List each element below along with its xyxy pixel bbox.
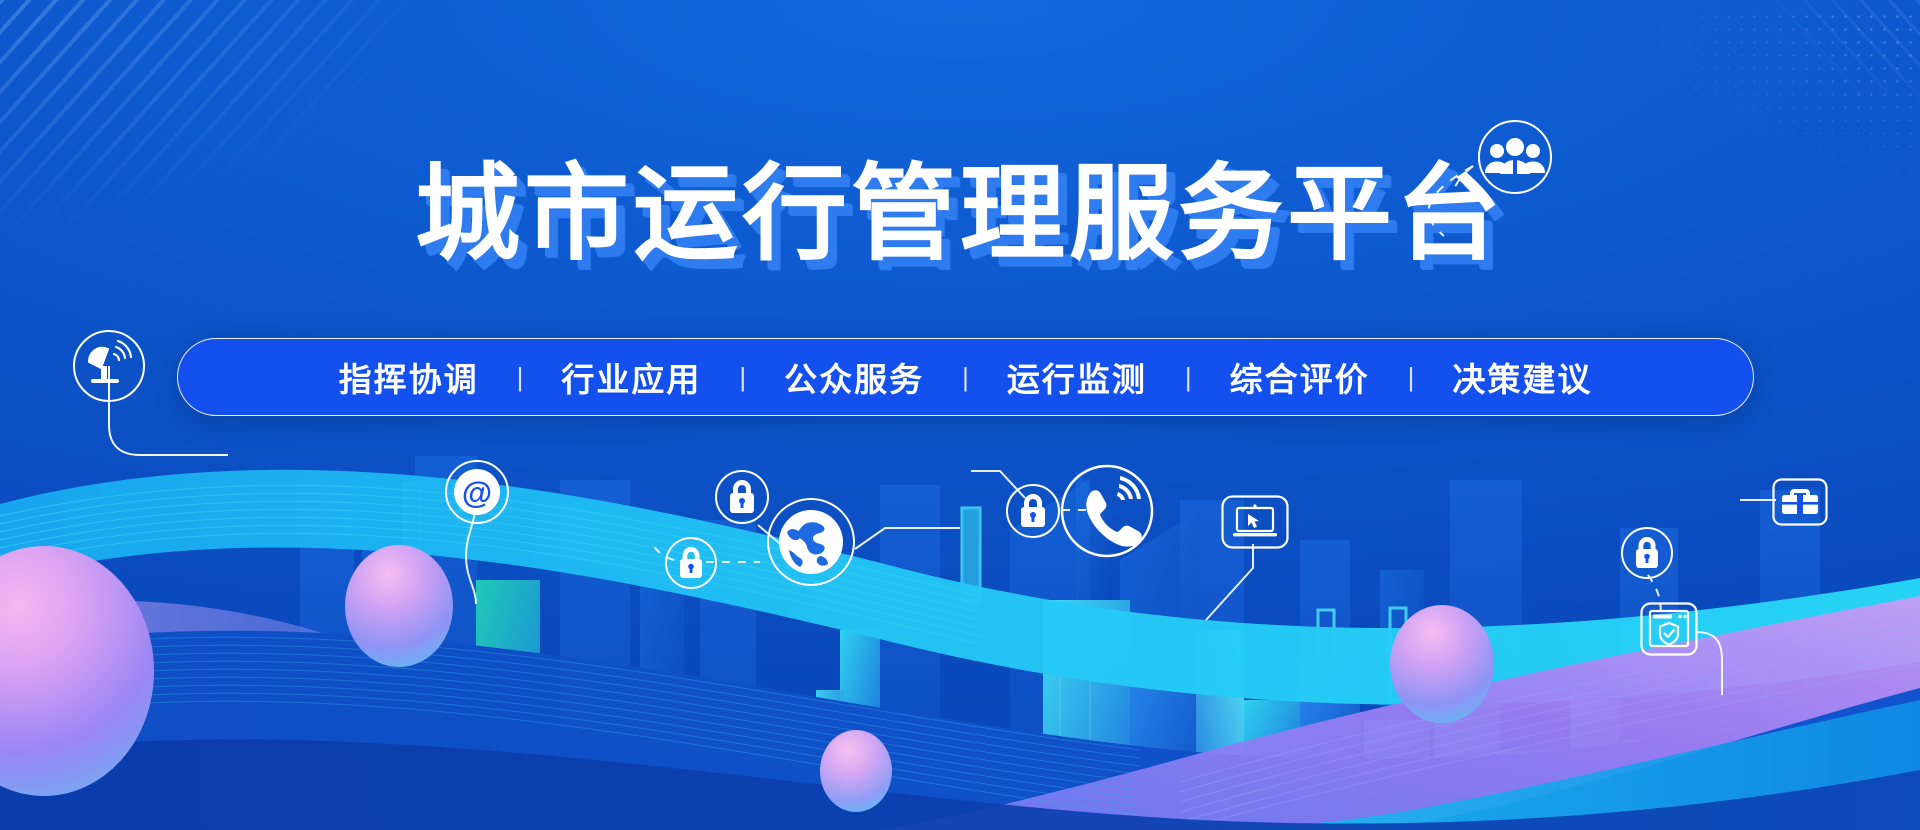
people-group-icon[interactable] <box>1476 118 1554 196</box>
svg-text:@: @ <box>462 475 492 510</box>
lock-icon[interactable] <box>713 468 771 526</box>
phone-ringing-icon[interactable] <box>1058 462 1156 560</box>
city-platform-banner: @ <box>0 0 1920 830</box>
browser-shield-icon[interactable] <box>1640 602 1698 656</box>
lock-icon[interactable] <box>664 536 718 590</box>
briefcase-icon[interactable] <box>1772 478 1828 526</box>
nav-item-4[interactable]: 综合评价 <box>1196 353 1404 401</box>
globe-icon[interactable] <box>765 496 857 588</box>
nav-separator: | <box>1181 362 1196 393</box>
nav-item-2[interactable]: 公众服务 <box>750 353 958 401</box>
satellite-dish-icon[interactable] <box>71 328 147 404</box>
nav-item-1[interactable]: 行业应用 <box>527 353 735 401</box>
nav-item-5[interactable]: 决策建议 <box>1418 353 1626 401</box>
lock-icon[interactable] <box>1620 526 1674 580</box>
main-nav-bar[interactable]: 指挥协调 | 行业应用 | 公众服务 | 运行监测 | 综合评价 | 决策建议 <box>177 338 1754 416</box>
nav-item-3[interactable]: 运行监测 <box>973 353 1181 401</box>
nav-item-0[interactable]: 指挥协调 <box>305 353 513 401</box>
page-title: 城市运行管理服务平台 <box>415 160 1505 270</box>
nav-separator: | <box>513 362 528 393</box>
at-sign-icon[interactable]: @ <box>443 458 511 526</box>
banner-title-container: 城市运行管理服务平台 <box>0 160 1920 270</box>
nav-separator: | <box>735 362 750 393</box>
nav-separator: | <box>1404 362 1419 393</box>
nav-separator: | <box>958 362 973 393</box>
lock-icon[interactable] <box>1004 482 1062 540</box>
laptop-cursor-icon[interactable] <box>1221 495 1289 549</box>
wave-ribbons-illustration <box>0 400 1920 830</box>
